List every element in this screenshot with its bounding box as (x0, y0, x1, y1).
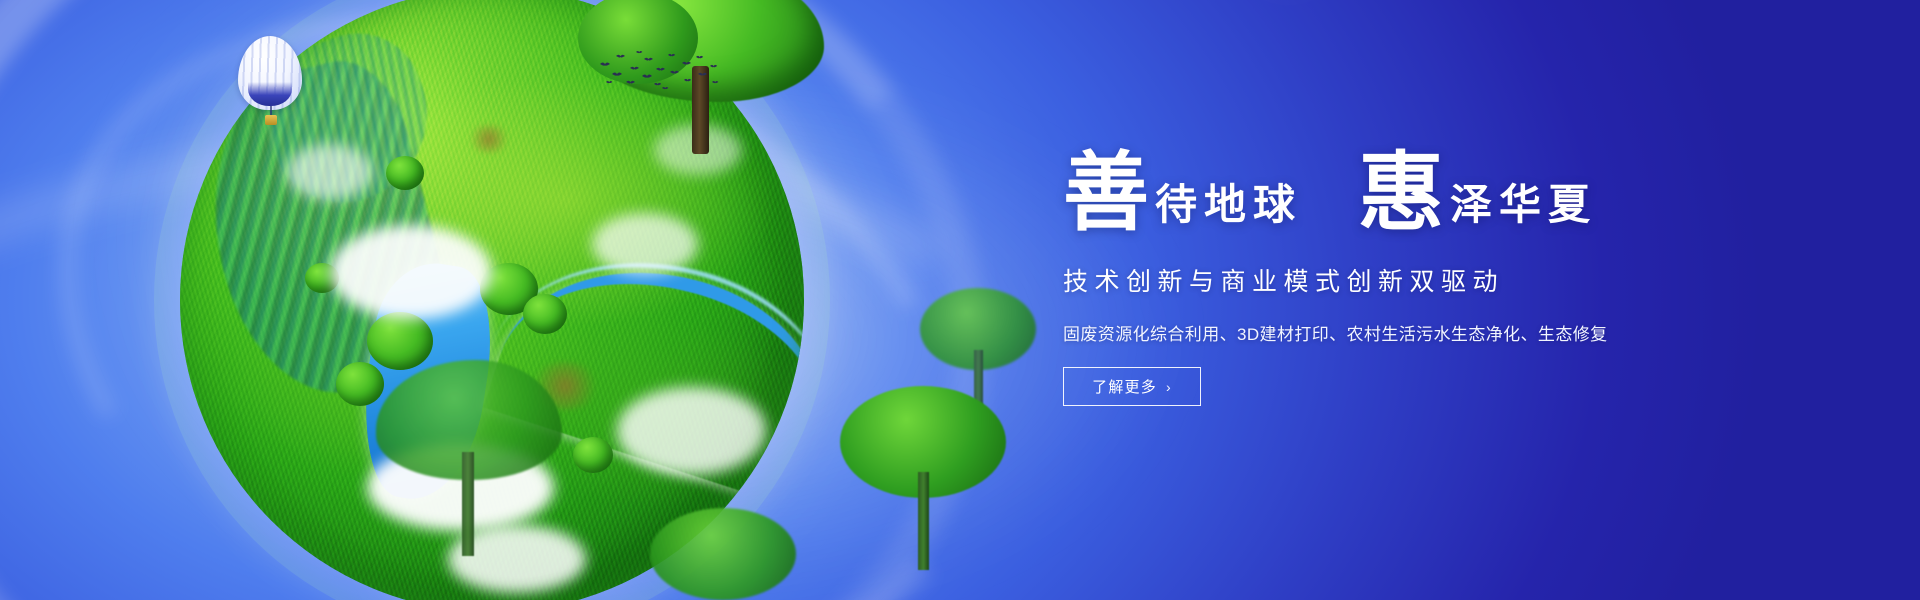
tree-trunk (462, 452, 474, 556)
hot-air-balloon-icon (238, 36, 302, 132)
surface-cloud (592, 213, 698, 275)
headline-text-daidiqiu: 待地球 (1155, 185, 1302, 236)
shrub-cluster (523, 294, 567, 334)
hero-description: 固废资源化综合利用、3D建材打印、农村生活污水生态净化、生态修复 (1063, 320, 1703, 345)
chevron-right-icon: › (1166, 380, 1172, 394)
learn-more-label: 了解更多 (1092, 376, 1157, 397)
hero-banner: 善 待地球 惠 泽华夏 技术创新与商业模式创新双驱动 固废资源化综合利用、3D建… (0, 0, 1920, 600)
hero-content: 善 待地球 惠 泽华夏 技术创新与商业模式创新双驱动 固废资源化综合利用、3D建… (1063, 150, 1703, 406)
tree-icon (840, 386, 1010, 586)
tree-icon (376, 360, 566, 570)
surface-cloud (330, 225, 492, 319)
surface-cloud (286, 144, 373, 200)
tree-trunk (918, 472, 929, 570)
tree-icon (650, 508, 800, 600)
headline-text-zehuaxia: 泽华夏 (1450, 185, 1597, 236)
balloon-basket (265, 115, 277, 125)
headline-char-shan: 善 (1063, 150, 1149, 236)
surface-cloud (617, 387, 767, 474)
hero-headline: 善 待地球 惠 泽华夏 (1063, 150, 1703, 236)
tree-crown (650, 508, 796, 600)
learn-more-button[interactable]: 了解更多 › (1063, 367, 1201, 406)
bird-flock-icon (596, 50, 724, 92)
hero-subtitle: 技术创新与商业模式创新双驱动 (1063, 262, 1703, 298)
headline-char-hui: 惠 (1358, 150, 1444, 236)
